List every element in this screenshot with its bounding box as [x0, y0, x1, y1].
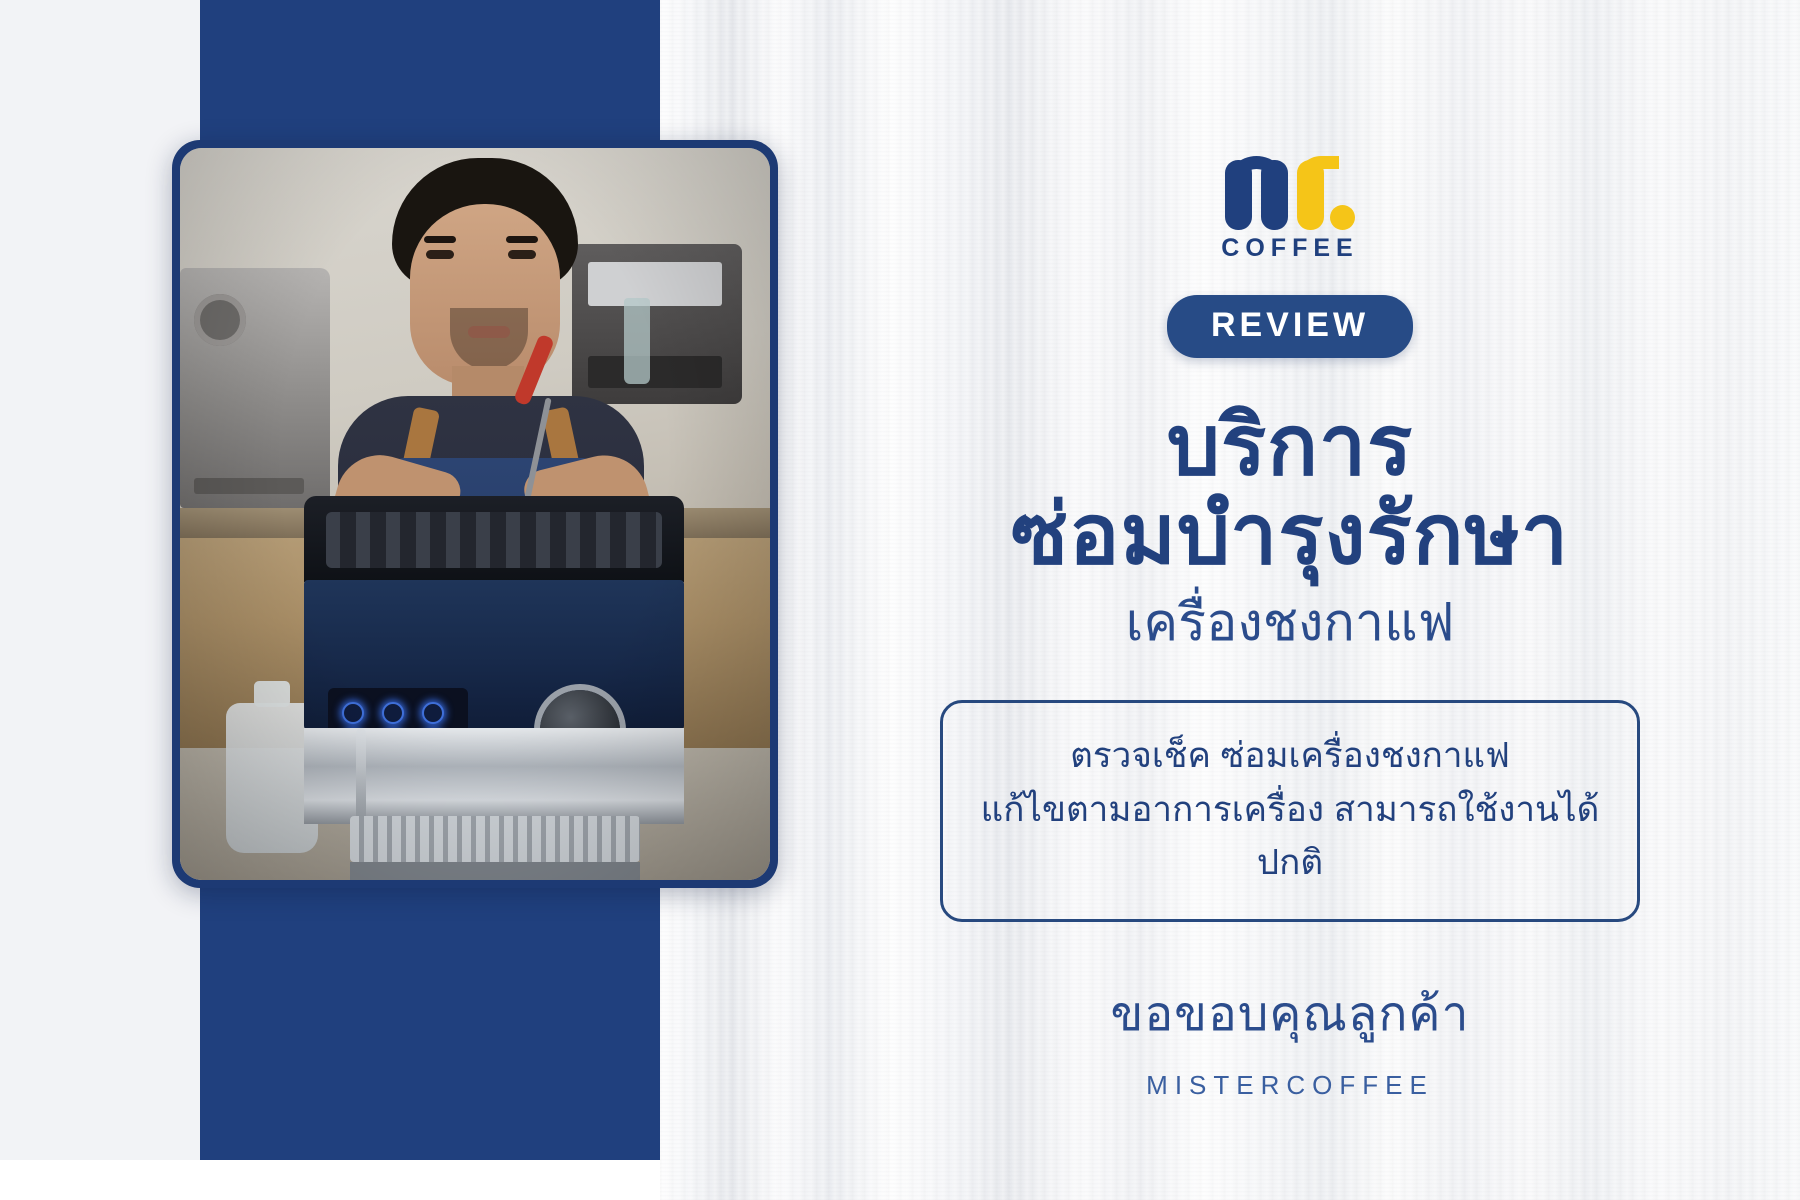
- left-white-strip: [0, 0, 200, 1200]
- photo-technician-repairing-espresso-machine: [180, 148, 770, 880]
- description-line-1: ตรวจเช็ค ซ่อมเครื่องชงกาแฟ: [973, 729, 1607, 782]
- brand-logo-word: COFFEE: [1221, 234, 1358, 263]
- description-box: ตรวจเช็ค ซ่อมเครื่องชงกาแฟ แก้ไขตามอาการ…: [940, 700, 1640, 922]
- heading-line-2: ซ่อมบำรุงรักษา: [1011, 489, 1569, 580]
- footer-brand-name: MISTERCOFFEE: [1146, 1070, 1434, 1101]
- review-badge: REVIEW: [1167, 295, 1413, 358]
- mr-logo-icon: [1225, 138, 1355, 230]
- photo-vignette: [180, 148, 770, 880]
- brand-logo: COFFEE: [1221, 138, 1358, 263]
- heading-line-1: บริการ: [1011, 402, 1569, 489]
- description-line-2: แก้ไขตามอาการเครื่อง สามารถใช้งานได้ปกติ: [973, 783, 1607, 889]
- photo-frame: [172, 140, 778, 888]
- thank-you-text: ขอขอบคุณลูกค้า: [1111, 976, 1470, 1052]
- content-column: COFFEE REVIEW บริการ ซ่อมบำรุงรักษา เครื…: [780, 0, 1800, 1200]
- page-title: บริการ ซ่อมบำรุงรักษา เครื่องชงกาแฟ: [1011, 402, 1569, 654]
- logo-period-dot: [1330, 205, 1355, 230]
- left-bottom-white-band: [0, 1160, 660, 1200]
- heading-subtitle: เครื่องชงกาแฟ: [1011, 592, 1569, 654]
